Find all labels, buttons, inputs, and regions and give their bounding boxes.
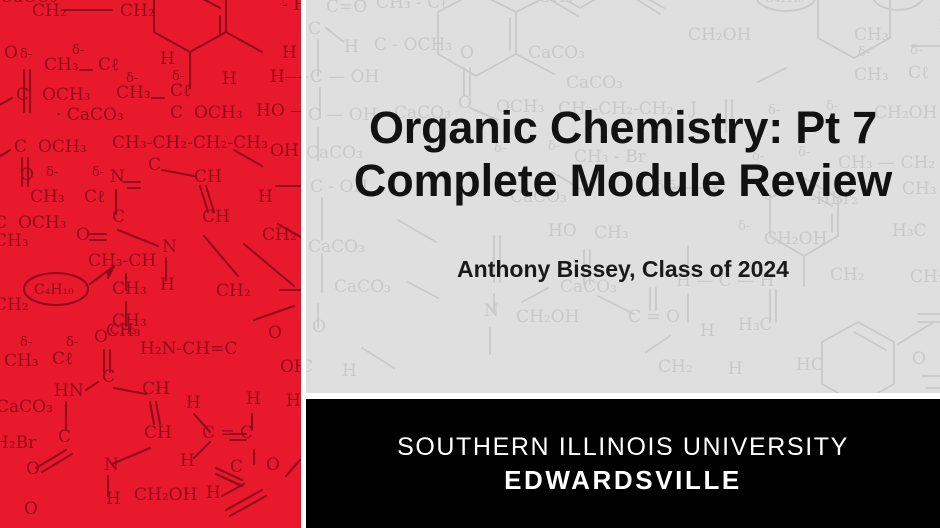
svg-text:δ-: δ- <box>20 335 32 350</box>
svg-text:C: C <box>58 427 71 447</box>
svg-text:C₄H₁₀: C₄H₁₀ <box>34 282 74 298</box>
svg-text:δ-: δ- <box>92 165 104 180</box>
svg-text:OH: OH <box>280 357 301 377</box>
svg-text:Cℓ: Cℓ <box>84 187 105 207</box>
svg-text:H: H <box>180 451 195 471</box>
svg-text:CH₂OH: CH₂OH <box>134 485 197 505</box>
svg-text:O: O <box>26 459 40 479</box>
svg-text:CH: CH <box>194 167 222 187</box>
svg-text:H: H <box>286 391 301 411</box>
svg-text:H—: H— <box>270 67 301 87</box>
svg-text:δ-: δ- <box>46 165 58 180</box>
svg-text:CaCO₃: CaCO₃ <box>0 397 53 417</box>
svg-text:OCH₃: OCH₃ <box>18 213 67 233</box>
svg-text:CH₃: CH₃ <box>110 323 137 338</box>
svg-text:Cℓ: Cℓ <box>52 349 73 369</box>
title-panel: Cℓ C=O CH₃ - Cℓ CH₃ CaCO₃ CH₂ C₄H₁₀ CH₃ … <box>306 0 940 393</box>
title-block: Organic Chemistry: Pt 7 Complete Module … <box>306 0 940 393</box>
svg-text:CH₃-CH₂-CH₂-CH₃: CH₃-CH₂-CH₂-CH₃ <box>112 133 268 153</box>
presentation-slide: CaCO₃ CH₂ CH₂ - H₂C δ- δ- O CH₃ Cℓ H H δ… <box>0 0 940 528</box>
svg-text:Cℓ: Cℓ <box>98 55 119 75</box>
svg-text:OCH₃: OCH₃ <box>194 103 243 123</box>
svg-text:H: H <box>160 49 175 69</box>
svg-text:CH₂: CH₂ <box>32 1 67 21</box>
svg-text:CH₂: CH₂ <box>120 1 155 21</box>
page-title-line-1: Organic Chemistry: Pt 7 <box>354 101 892 154</box>
svg-text:H: H <box>222 69 237 89</box>
svg-text:CH: CH <box>144 423 172 443</box>
svg-text:HN: HN <box>54 381 84 401</box>
svg-text:C: C <box>230 457 243 477</box>
svg-text:O: O <box>76 225 90 245</box>
svg-text:δ-: δ- <box>20 47 32 62</box>
svg-text:N: N <box>162 237 177 257</box>
svg-text:H: H <box>186 393 201 413</box>
university-name: SOUTHERN ILLINOIS UNIVERSITY <box>397 432 849 462</box>
siue-logo-banner: SOUTHERN ILLINOIS UNIVERSITY EDWARDSVILL… <box>306 399 940 528</box>
svg-text:C: C <box>14 137 27 157</box>
svg-text:C: C <box>148 155 161 175</box>
campus-name: EDWARDSVILLE <box>504 465 742 495</box>
svg-text:CH: CH <box>142 379 170 399</box>
red-decorative-panel: CaCO₃ CH₂ CH₂ - H₂C δ- δ- O CH₃ Cℓ H H δ… <box>0 0 301 528</box>
svg-text:· CaCO₃: · CaCO₃ <box>56 105 124 125</box>
svg-text:C: C <box>170 103 183 123</box>
svg-text:CH₃-CH: CH₃-CH <box>88 251 156 271</box>
svg-text:- H₂C: - H₂C <box>282 0 301 15</box>
svg-text:H: H <box>282 43 297 63</box>
svg-text:H₂Br: H₂Br <box>0 433 37 453</box>
svg-text:H: H <box>246 389 261 409</box>
svg-text:CH₂: CH₂ <box>0 295 29 315</box>
svg-text:N: N <box>110 167 125 187</box>
svg-text:CH₃: CH₃ <box>0 231 29 251</box>
svg-text:CH₃: CH₃ <box>30 187 65 207</box>
svg-text:δ-: δ- <box>66 335 78 350</box>
page-title: Organic Chemistry: Pt 7 Complete Module … <box>336 101 910 207</box>
page-title-line-2: Complete Module Review <box>354 154 892 207</box>
svg-text:H: H <box>258 187 273 207</box>
svg-text:OCH₃: OCH₃ <box>42 85 91 105</box>
chemistry-doodle-pattern-red: CaCO₃ CH₂ CH₂ - H₂C δ- δ- O CH₃ Cℓ H H δ… <box>0 0 301 528</box>
svg-text:CH₂: CH₂ <box>216 281 251 301</box>
svg-text:O: O <box>24 499 38 519</box>
svg-text:CH: CH <box>202 207 230 227</box>
svg-text:HO —: HO — <box>256 101 301 121</box>
svg-text:O: O <box>266 455 280 475</box>
svg-text:H: H <box>160 275 175 295</box>
svg-text:H₂N-CH=C: H₂N-CH=C <box>140 339 237 359</box>
svg-text:OCH₃: OCH₃ <box>38 137 87 157</box>
svg-text:Cℓ: Cℓ <box>170 81 191 101</box>
svg-text:CH₃: CH₃ <box>116 83 151 103</box>
svg-text:CH₃: CH₃ <box>4 351 39 371</box>
svg-text:CH₃: CH₃ <box>112 279 147 299</box>
svg-text:O: O <box>4 43 18 63</box>
page-subtitle: Anthony Bissey, Class of 2024 <box>439 255 807 283</box>
svg-text:O: O <box>268 323 282 343</box>
svg-text:OH: OH <box>270 141 299 161</box>
svg-text:O: O <box>94 327 108 347</box>
svg-text:C: C <box>112 207 125 227</box>
svg-text:N: N <box>104 455 119 475</box>
svg-text:CH₂: CH₂ <box>262 225 297 245</box>
svg-text:C: C <box>16 85 29 105</box>
svg-text:C: C <box>0 213 7 233</box>
svg-text:CH₃: CH₃ <box>44 55 79 75</box>
svg-text:H: H <box>206 483 221 503</box>
